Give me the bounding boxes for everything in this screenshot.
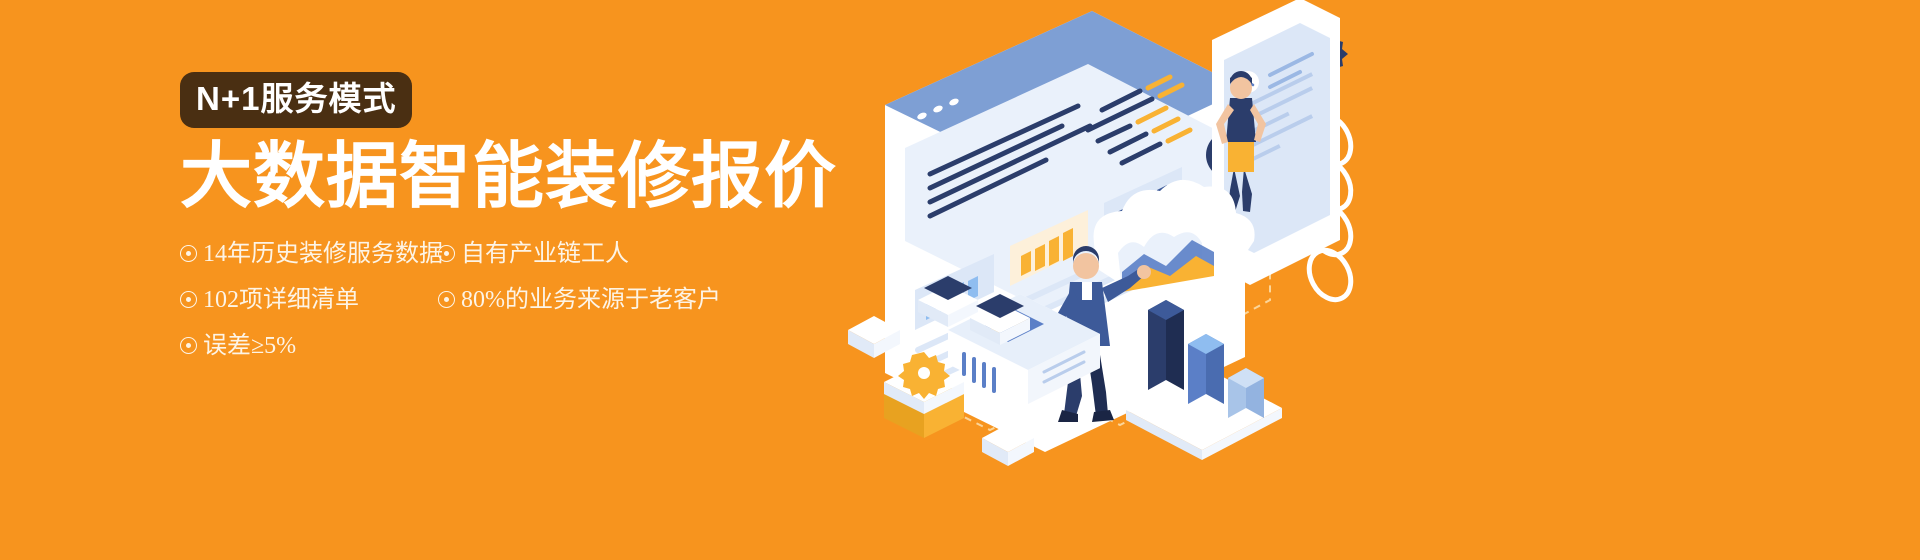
bullet-label: 102项详细清单 bbox=[203, 282, 359, 318]
bullet-label: 80%的业务来源于老客户 bbox=[461, 282, 721, 318]
service-mode-badge: N+1服务模式 bbox=[180, 72, 412, 128]
bullet-right-2: 80%的业务来源于老客户 bbox=[438, 282, 721, 318]
promo-banner: N+1服务模式 大数据智能装修报价 14年历史装修服务数据 自有产业链工人 10… bbox=[0, 0, 1920, 560]
bullet-left-1: 14年历史装修服务数据 bbox=[180, 236, 438, 272]
bullet-left-2: 102项详细清单 bbox=[180, 282, 438, 318]
feature-bullet-list: 14年历史装修服务数据 自有产业链工人 102项详细清单 80%的业务来源于老客… bbox=[180, 236, 840, 364]
circle-dot-icon bbox=[180, 245, 197, 262]
isometric-illustration bbox=[830, 0, 1390, 560]
circle-dot-icon bbox=[438, 245, 455, 262]
banner-text-block: N+1服务模式 大数据智能装修报价 14年历史装修服务数据 自有产业链工人 10… bbox=[180, 72, 840, 374]
bullet-label: 14年历史装修服务数据 bbox=[203, 236, 443, 272]
bullet-label: 误差≥5% bbox=[203, 328, 296, 364]
list-item: 14年历史装修服务数据 自有产业链工人 bbox=[180, 236, 840, 272]
list-item: 误差≥5% bbox=[180, 328, 840, 364]
bullet-right-1: 自有产业链工人 bbox=[438, 236, 629, 272]
circle-dot-icon bbox=[180, 291, 197, 308]
bullet-left-3: 误差≥5% bbox=[180, 328, 438, 364]
list-item: 102项详细清单 80%的业务来源于老客户 bbox=[180, 282, 840, 318]
page-title: 大数据智能装修报价 bbox=[180, 140, 840, 216]
circle-dot-icon bbox=[438, 291, 455, 308]
bullet-label: 自有产业链工人 bbox=[461, 236, 629, 272]
circle-dot-icon bbox=[180, 337, 197, 354]
